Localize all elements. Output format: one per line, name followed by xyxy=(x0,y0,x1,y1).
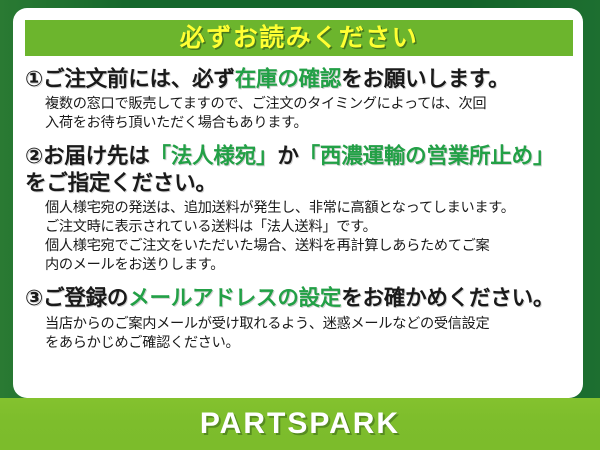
notice-item-2: ②お届け先は「法人様宛」か「西濃運輸の営業所止め」をご指定ください。 個人様宅宛… xyxy=(25,143,573,275)
notice-item-3-heading: ③ご登録のメールアドレスの設定をお確かめください。 xyxy=(25,285,573,312)
notice-item-2-heading: ②お届け先は「法人様宛」か「西濃運輸の営業所止め」をご指定ください。 xyxy=(25,143,573,197)
notice-item-3-heading-pre: ご登録の xyxy=(43,286,128,310)
notice-item-1: ①ご注文前には、必ず在庫の確認をお願いします。 複数の窓口で販売してますので、ご… xyxy=(25,66,573,133)
notice-item-1-heading-post: をお願いします。 xyxy=(341,67,509,91)
notice-item-3-heading-highlight: メールアドレスの設定 xyxy=(128,286,341,310)
notice-panel: 必ずお読みください ①ご注文前には、必ず在庫の確認をお願いします。 複数の窓口で… xyxy=(13,8,583,398)
notice-item-3-number: ③ xyxy=(25,286,43,310)
brand-logo-text: PARTSPARK xyxy=(200,409,400,439)
notice-item-2-heading-highlight: 「法人様宛」 xyxy=(150,144,278,168)
notice-item-2-number: ② xyxy=(25,144,43,168)
notice-item-2-heading-pre: お届け先は xyxy=(43,144,150,168)
notice-title-bar: 必ずお読みください xyxy=(25,20,573,56)
notice-item-1-body: 複数の窓口で販売してますので、ご注文のタイミングによっては、次回 入荷をお待ち頂… xyxy=(45,95,573,133)
notice-item-3-body: 当店からのご案内メールが受け取れるよう、迷惑メールなどの受信設定 をあらかじめご… xyxy=(45,315,573,353)
brand-footer: PARTSPARK xyxy=(0,398,600,450)
notice-banner: 必ずお読みください ①ご注文前には、必ず在庫の確認をお願いします。 複数の窓口で… xyxy=(0,0,600,450)
notice-item-2-heading-post: をご指定ください。 xyxy=(25,171,217,195)
page-title: 必ずお読みください xyxy=(180,26,419,51)
notice-item-3-heading-post: をお確かめください。 xyxy=(341,286,554,310)
notice-item-1-number: ① xyxy=(25,67,43,91)
notice-content: ①ご注文前には、必ず在庫の確認をお願いします。 複数の窓口で販売してますので、ご… xyxy=(13,64,583,357)
notice-item-1-heading-pre: ご注文前には、必ず xyxy=(43,67,235,91)
notice-item-1-heading: ①ご注文前には、必ず在庫の確認をお願いします。 xyxy=(25,66,573,93)
notice-item-2-body: 個人様宅宛の発送は、追加送料が発生し、非常に高額となってしまいます。 ご注文時に… xyxy=(45,199,573,275)
notice-item-2-heading-highlight-2: 「西濃運輸の営業所止め」 xyxy=(299,144,555,168)
notice-item-1-heading-highlight: 在庫の確認 xyxy=(235,67,342,91)
notice-item-3: ③ご登録のメールアドレスの設定をお確かめください。 当店からのご案内メールが受け… xyxy=(25,285,573,352)
notice-item-2-heading-mid: か xyxy=(277,144,298,168)
